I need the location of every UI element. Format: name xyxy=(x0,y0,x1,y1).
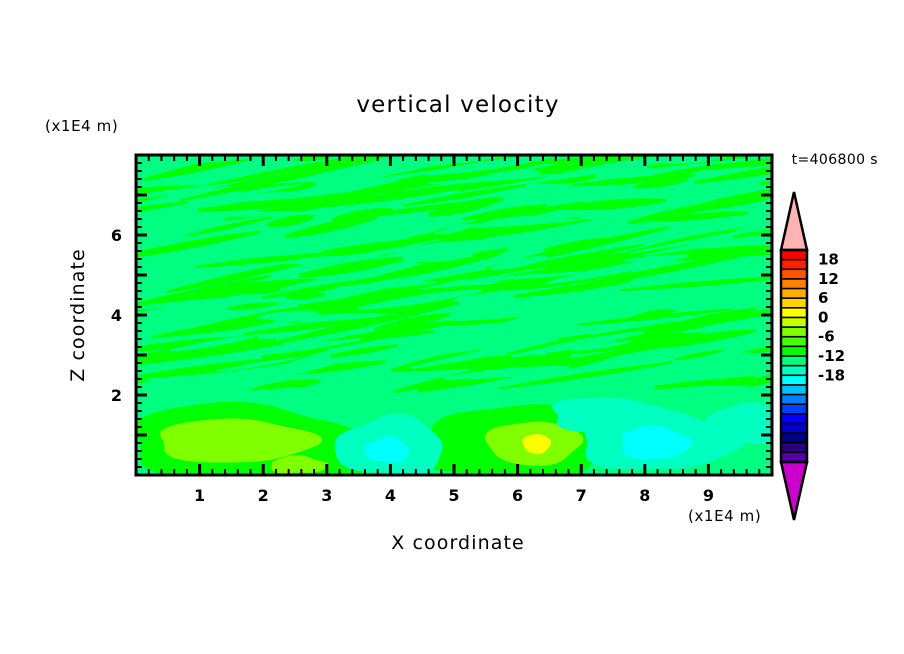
y-tick-label-1: 4 xyxy=(111,306,122,325)
x-tick-label-1: 2 xyxy=(258,486,269,505)
colorbar-band-18 xyxy=(781,423,807,433)
x-tick-label-7: 8 xyxy=(639,486,650,505)
x-tick-label-4: 5 xyxy=(448,486,459,505)
x-axis-title: X coordinate xyxy=(391,532,525,554)
x-axis-unit-label: (x1E4 m) xyxy=(688,507,761,525)
colorbar-band-4 xyxy=(781,289,807,299)
colorbar-band-20 xyxy=(781,443,807,453)
colorbar-band-6 xyxy=(781,308,807,318)
x-tick-label-2: 3 xyxy=(321,486,332,505)
colorbar-band-10 xyxy=(781,346,807,356)
y-tick-label-2: 6 xyxy=(111,226,122,245)
colorbar-band-16 xyxy=(781,404,807,414)
convective-cells xyxy=(134,394,793,481)
colorbar-bands xyxy=(781,250,807,462)
colorbar-band-1 xyxy=(781,260,807,270)
colorbar-label-3: 0 xyxy=(818,308,828,326)
colorbar-band-5 xyxy=(781,298,807,308)
x-tick-label-8: 9 xyxy=(703,486,714,505)
colorbar-label-2: 6 xyxy=(818,289,828,307)
colorbar-band-9 xyxy=(781,337,807,347)
colorbar-band-17 xyxy=(781,414,807,424)
y-axis-unit-label: (x1E4 m) xyxy=(45,117,118,135)
colorbar-label-4: -6 xyxy=(818,328,835,346)
x-tick-label-3: 4 xyxy=(385,486,396,505)
colorbar-label-1: 12 xyxy=(818,270,839,288)
y-axis-title: Z coordinate xyxy=(67,248,89,382)
colorbar-band-2 xyxy=(781,269,807,279)
colorbar-band-13 xyxy=(781,375,807,385)
x-tick-label-5: 6 xyxy=(512,486,523,505)
colorbar-band-14 xyxy=(781,385,807,395)
colorbar-band-12 xyxy=(781,366,807,376)
x-tick-label-6: 7 xyxy=(576,486,587,505)
y-tick-label-0: 2 xyxy=(111,386,122,405)
colorbar-band-11 xyxy=(781,356,807,366)
time-annotation: t=406800 s xyxy=(792,152,878,168)
colorbar-label-6: -18 xyxy=(818,366,845,384)
colorbar-band-0 xyxy=(781,250,807,260)
page-title: vertical velocity xyxy=(356,92,559,118)
colorbar-band-3 xyxy=(781,279,807,289)
x-tick-label-0: 1 xyxy=(194,486,205,505)
colorbar-band-19 xyxy=(781,433,807,443)
vertical-velocity-contour-figure: vertical velocity (x1E4 m) t=406800 s X … xyxy=(0,0,904,654)
colorbar-band-15 xyxy=(781,395,807,405)
colorbar-band-7 xyxy=(781,317,807,327)
colorbar-label-5: -12 xyxy=(818,347,845,365)
colorbar-label-0: 18 xyxy=(818,251,839,269)
colorbar-band-8 xyxy=(781,327,807,337)
